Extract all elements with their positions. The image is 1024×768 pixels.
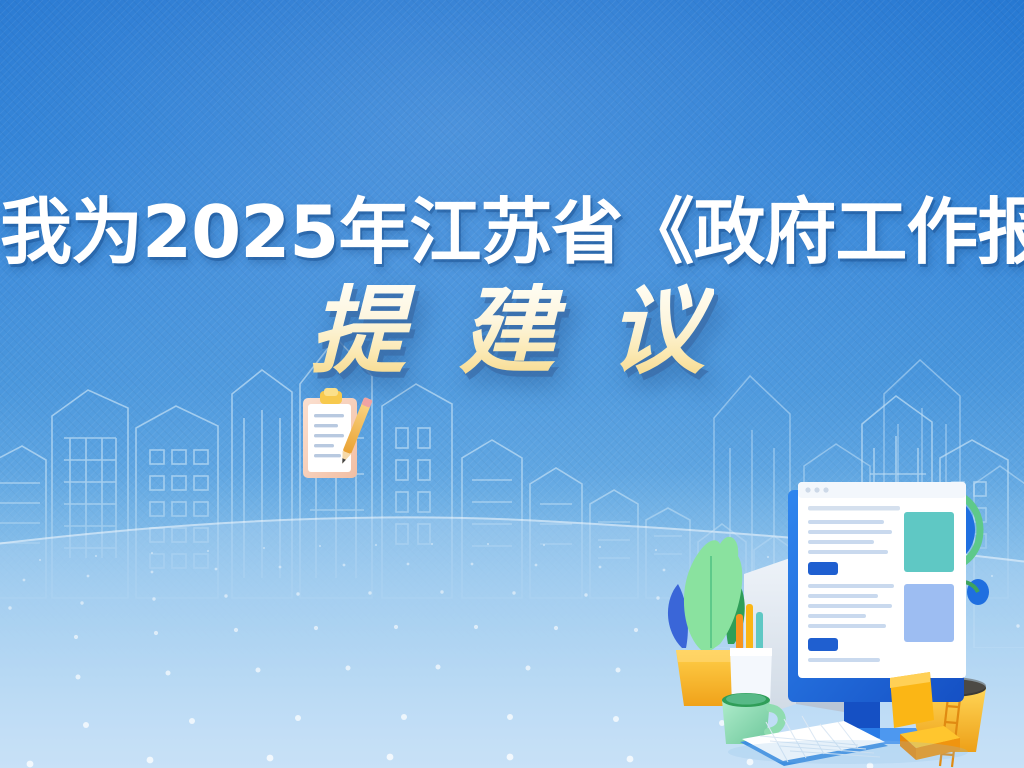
page-title-line1: 我为2025年江苏省《政府工作报告》: [0, 196, 1024, 269]
promo-banner: 我为2025年江苏省《政府工作报告》 提 建 议: [0, 0, 1024, 768]
desk-workstation-illustration: [648, 452, 1024, 768]
clipboard-icon: [296, 386, 380, 486]
sticky-note-standing: [890, 672, 934, 728]
